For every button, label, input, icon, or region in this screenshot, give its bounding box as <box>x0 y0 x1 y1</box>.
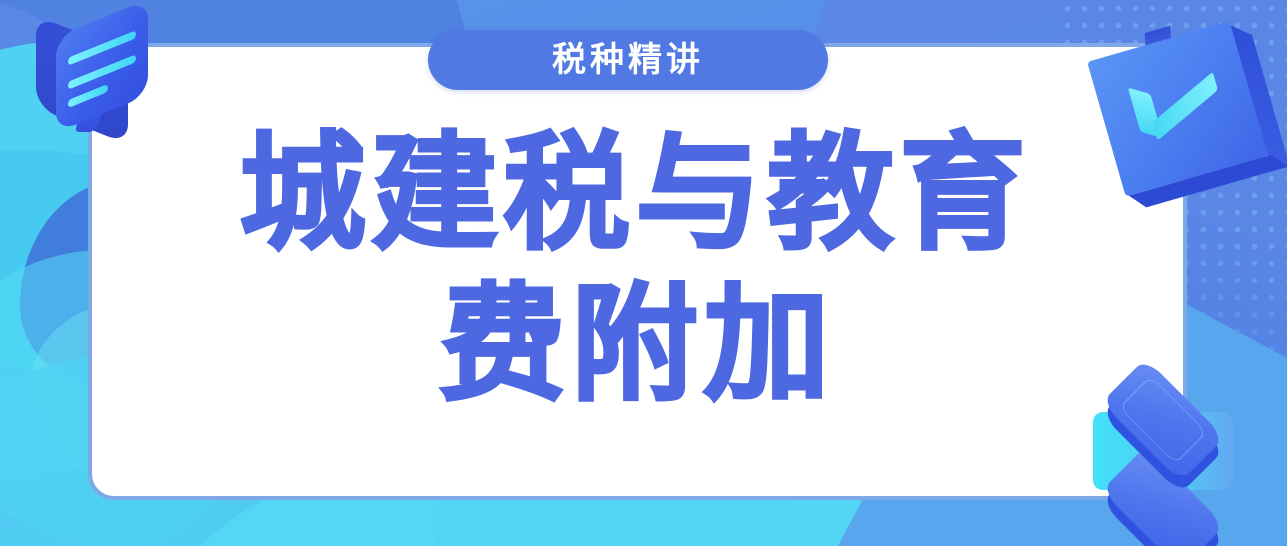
category-badge: 税种精讲 <box>428 30 828 90</box>
page-title: 城建税与教育 费附加 <box>88 110 1187 430</box>
speech-bubble-front-face <box>56 0 148 133</box>
category-badge-label: 税种精讲 <box>552 43 704 77</box>
page-title-line-1: 城建税与教育 <box>84 110 1187 279</box>
speech-bubble-icon <box>34 18 154 136</box>
stacked-cube-icon <box>1077 360 1253 536</box>
page-title-line-2: 费附加 <box>88 261 1187 430</box>
course-banner: 城建税与教育 费附加 税种精讲 <box>0 0 1287 546</box>
